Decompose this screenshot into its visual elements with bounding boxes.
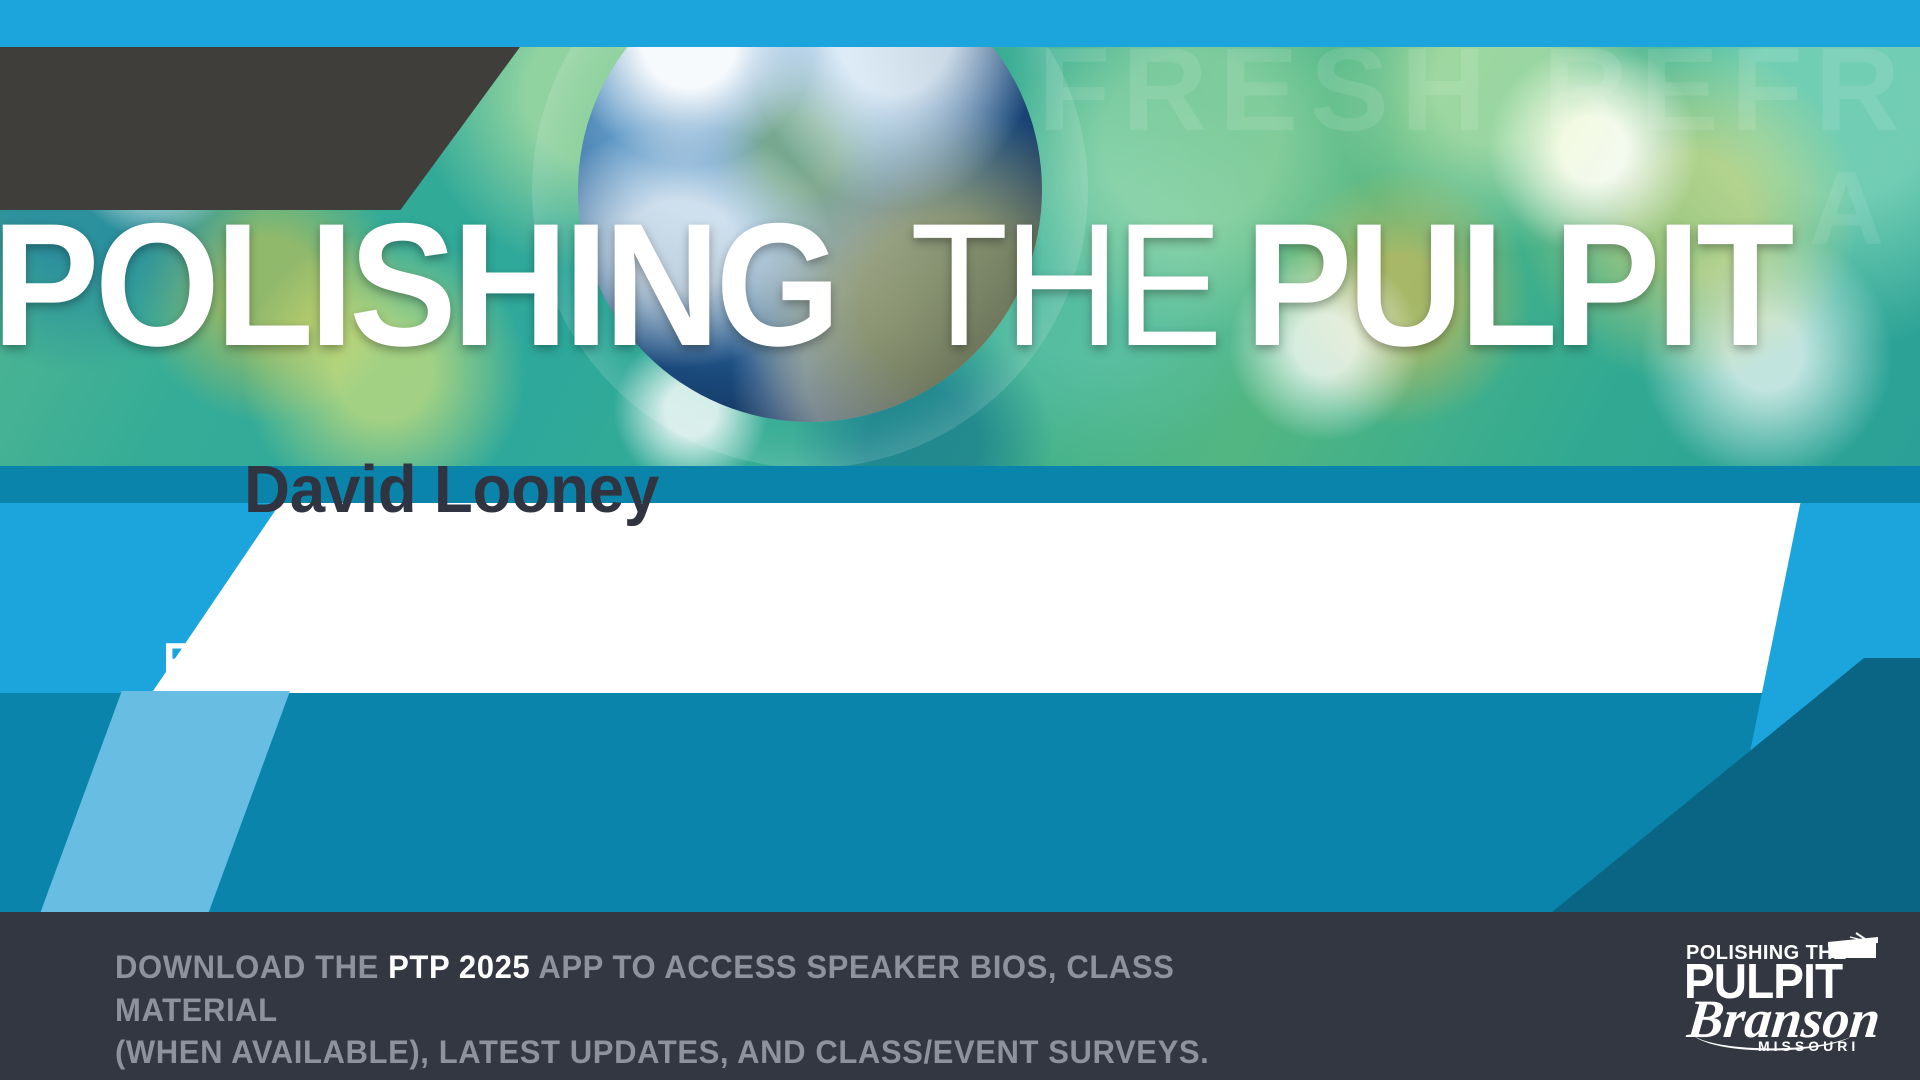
brand-headline: POLISHINGTHEPULPIT [0,198,1837,373]
headline-pulpit: PULPIT [1245,198,1790,373]
logo-missouri: MISSOURI [1758,1038,1859,1054]
app-download-note: DOWNLOAD THE PTP 2025 APP TO ACCESS SPEA… [115,946,1260,1074]
headline-polishing: POLISHING [0,198,836,373]
note-line2: (WHEN AVAILABLE), LATEST UPDATES, AND CL… [115,1034,1209,1070]
headline-the: THE [910,198,1218,373]
note-app-name: PTP 2025 [388,949,530,985]
presentation-slate: FRESH REFR A POLISHINGTHEPULPIT David Lo… [0,0,1920,1080]
session-geometry-panel [0,503,1920,912]
note-line1-pre: DOWNLOAD THE [115,949,388,985]
banner-header: FRESH REFR A POLISHINGTHEPULPIT [0,0,1920,466]
footer-bar: DOWNLOAD THE PTP 2025 APP TO ACCESS SPEA… [0,912,1920,1080]
top-accent-bar [0,0,1920,47]
ptp-branson-logo: POLISHING THE PULPIT Branson MISSOURI [1680,934,1876,1066]
speaker-name: David Looney [244,451,659,528]
session-title: Five Ways to Heal Family Wounds [163,632,883,687]
